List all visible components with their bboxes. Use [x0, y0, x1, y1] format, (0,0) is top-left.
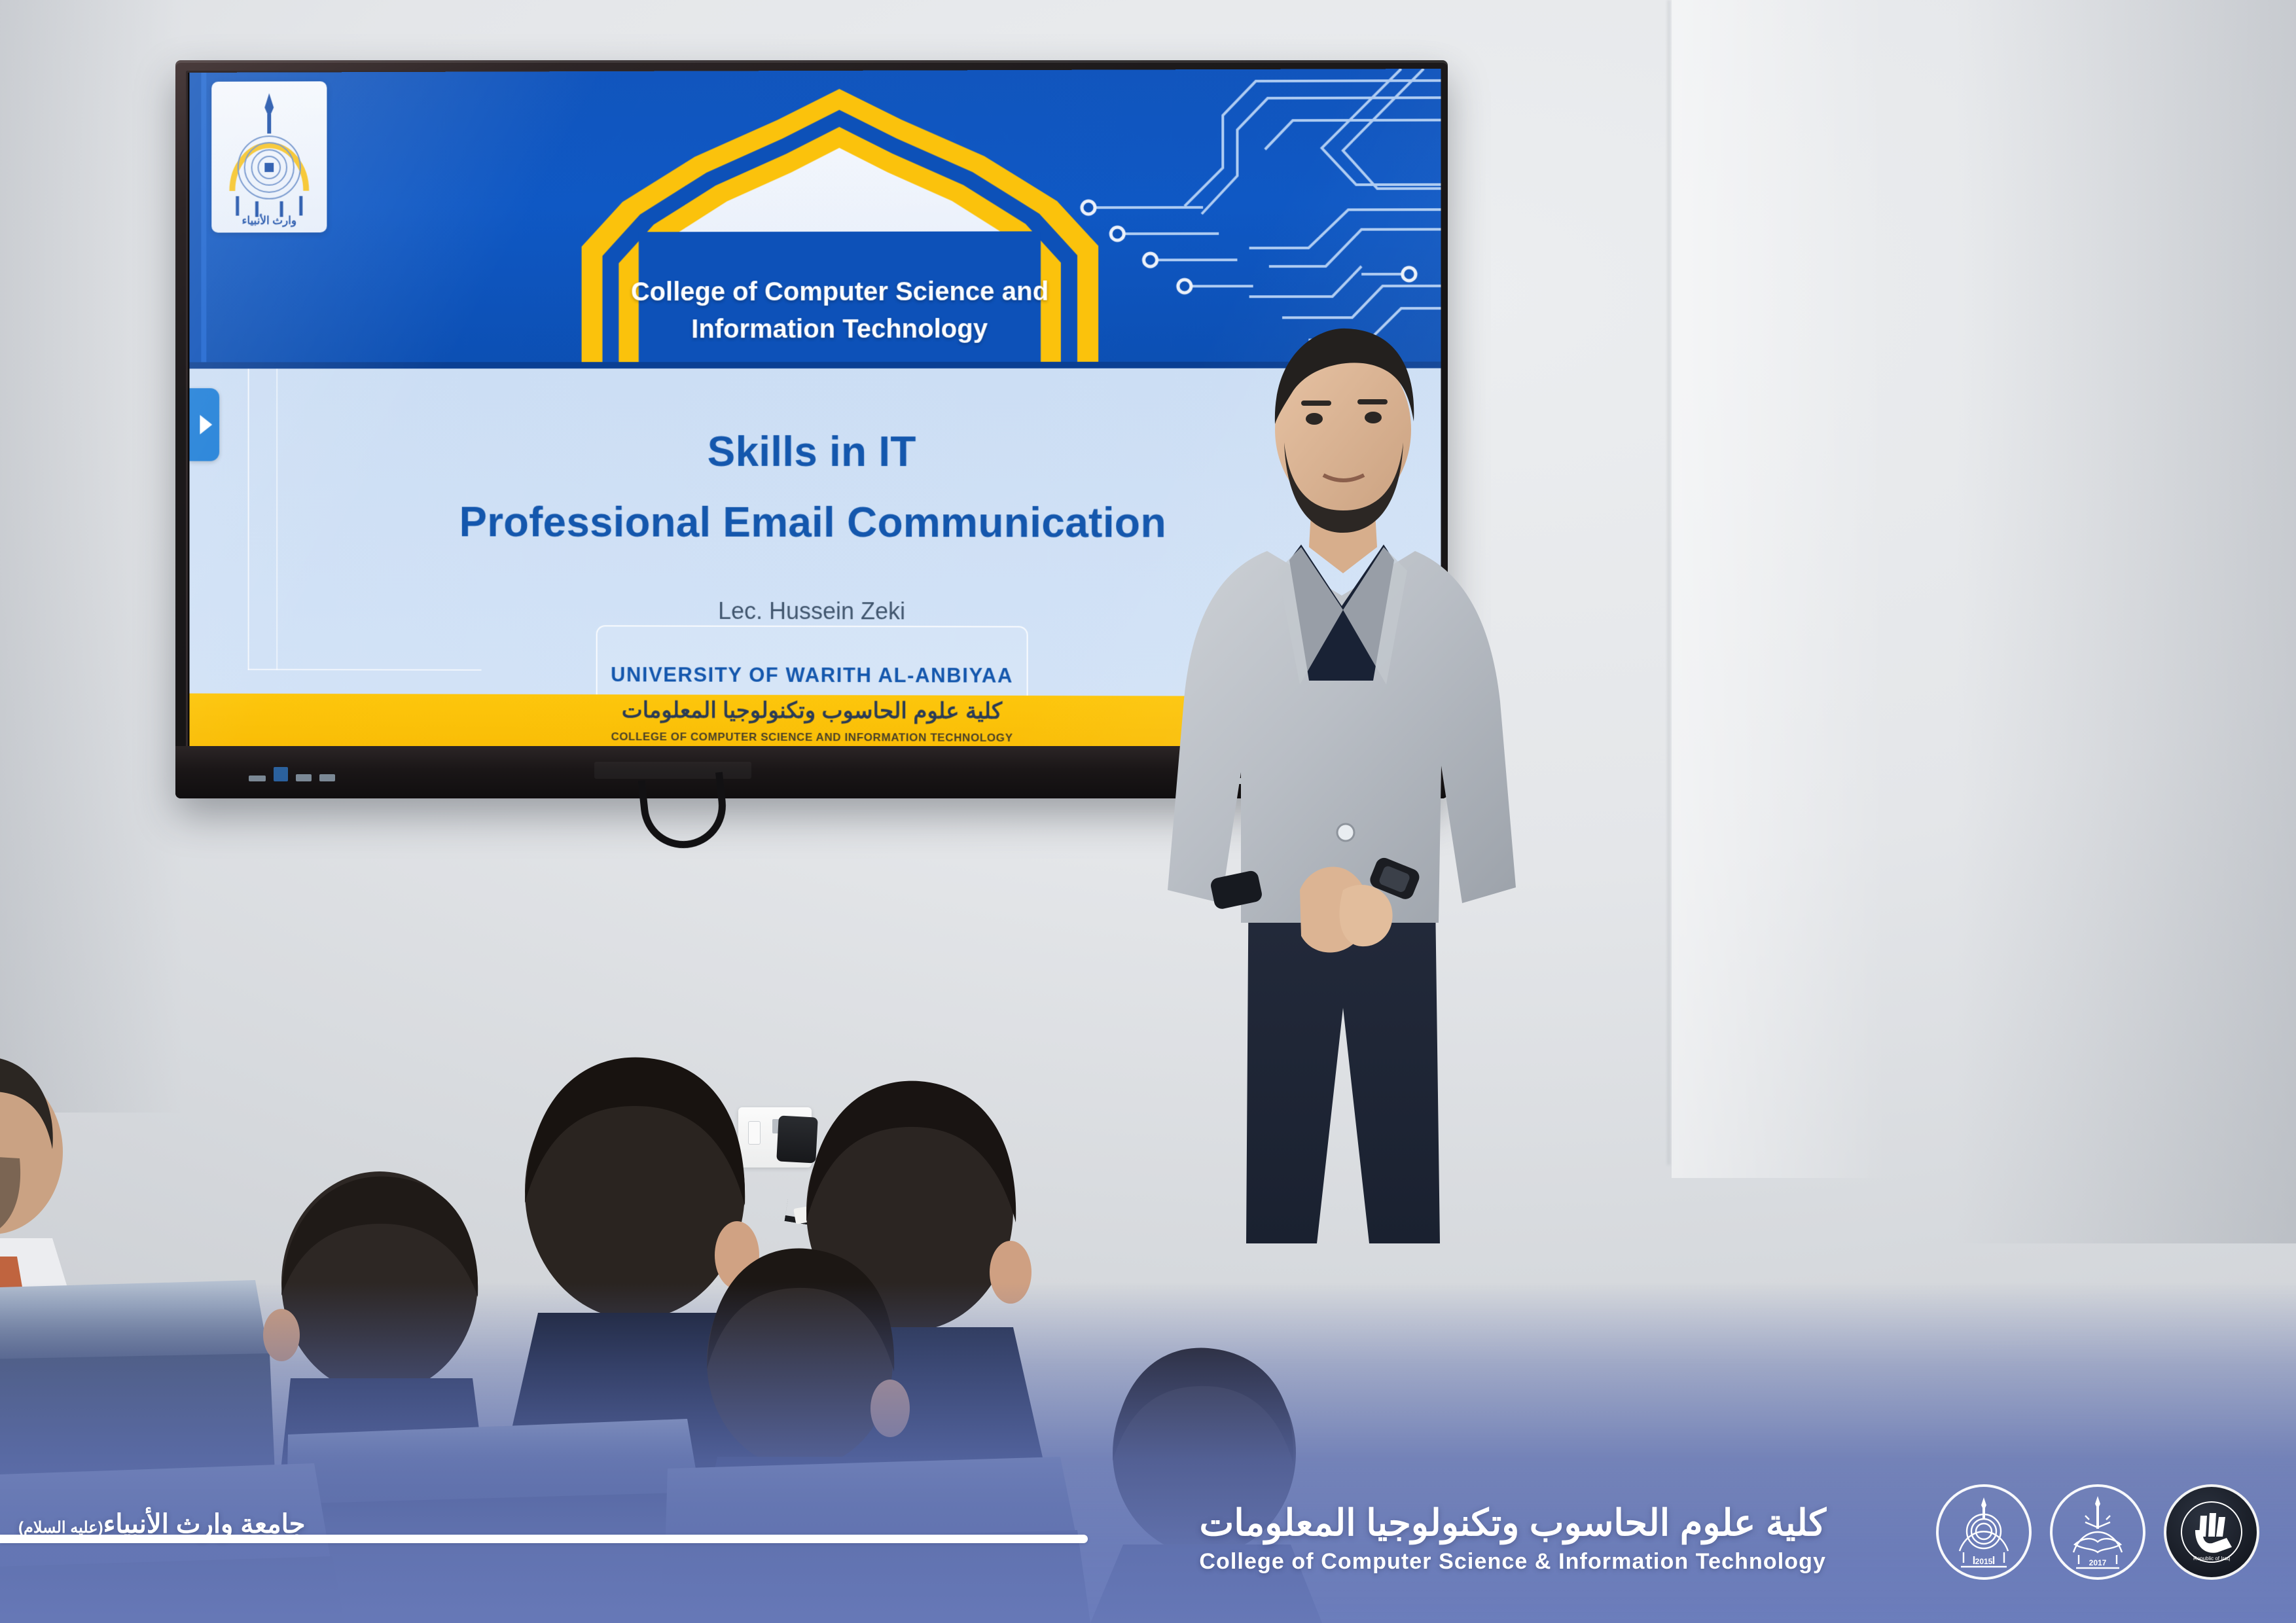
- header-title-line2: Information Technology: [611, 311, 1069, 348]
- university-seal-icon: وارث الأنبياء: [211, 81, 327, 232]
- display-ir-strip: [594, 762, 751, 779]
- usb-port-icon: [296, 774, 312, 781]
- university-logo: وارث الأنبياء: [211, 81, 327, 232]
- mosque-arch-graphic: College of Computer Science and Informat…: [493, 88, 1187, 368]
- wall-left-shading: [0, 0, 183, 1113]
- chair-seat-4: [0, 1556, 344, 1623]
- slide-university-plaque: UNIVERSITY OF WARITH AL-ANBIYAA: [596, 625, 1028, 697]
- slide-left-stripe-secondary: [201, 73, 206, 368]
- chair-seat-3: [658, 1530, 1090, 1623]
- display-port-icons: [249, 759, 373, 781]
- chair-seat-2: [281, 1492, 713, 1623]
- audience-person-6: [1090, 1348, 1322, 1623]
- jacket-button: [1337, 824, 1354, 841]
- power-button-icon[interactable]: [274, 767, 288, 781]
- screenshot-root: College of Computer Science and Informat…: [0, 0, 2296, 1623]
- wall-right-shading: [1956, 0, 2296, 1243]
- vga-port-icon: [319, 774, 335, 781]
- hdmi-port-icon: [249, 776, 266, 781]
- audience-rows: [0, 995, 1741, 1623]
- svg-text:وارث الأنبياء: وارث الأنبياء: [242, 213, 297, 227]
- slide-header-title: College of Computer Science and Informat…: [611, 274, 1069, 348]
- slide-left-stripe: [190, 73, 202, 368]
- audience-person-1: [0, 1056, 72, 1302]
- header-title-line1: College of Computer Science and: [611, 274, 1069, 312]
- slide-decorative-rule-horizontal: [248, 669, 482, 671]
- plaque-university-name: UNIVERSITY OF WARITH AL-ANBIYAA: [598, 663, 1027, 688]
